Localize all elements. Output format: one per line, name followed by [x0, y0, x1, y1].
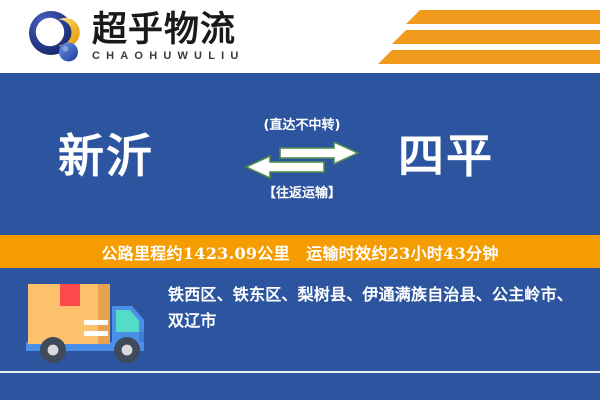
brand-logo-group: 超乎物流 CHAOHUWULIU	[26, 8, 245, 66]
circle-crescent-logo-icon	[26, 9, 82, 65]
bidirectional-arrow-icon	[222, 142, 382, 184]
coverage-areas-text: 铁西区、铁东区、梨树县、伊通满族自治县、公主岭市、双辽市	[168, 282, 586, 334]
banner-header: 超乎物流 CHAOHUWULIU	[0, 0, 600, 73]
brand-name-en: CHAOHUWULIU	[92, 50, 245, 63]
orange-speed-stripes-icon	[340, 10, 600, 66]
destination-city-label: 四平	[398, 128, 494, 184]
route-middle-group: (直达不中转) 【往返运输】	[222, 118, 382, 220]
route-info-text: 公路里程约1423.09公里 运输时效约23小时43分钟	[101, 240, 498, 264]
route-info-bar: 公路里程约1423.09公里 运输时效约23小时43分钟	[0, 235, 600, 268]
brand-name-cn: 超乎物流	[92, 12, 245, 48]
footer-divider	[0, 371, 600, 373]
round-trip-note: 【往返运输】	[222, 186, 382, 202]
delivery-truck-icon	[22, 280, 158, 372]
direct-route-note: (直达不中转)	[222, 118, 382, 134]
brand-text-block: 超乎物流 CHAOHUWULIU	[92, 12, 245, 63]
logistics-route-banner: 超乎物流 CHAOHUWULIU 新沂 四平 (直达不中转) 【往返运输	[0, 0, 600, 400]
origin-city-label: 新沂	[58, 128, 154, 184]
